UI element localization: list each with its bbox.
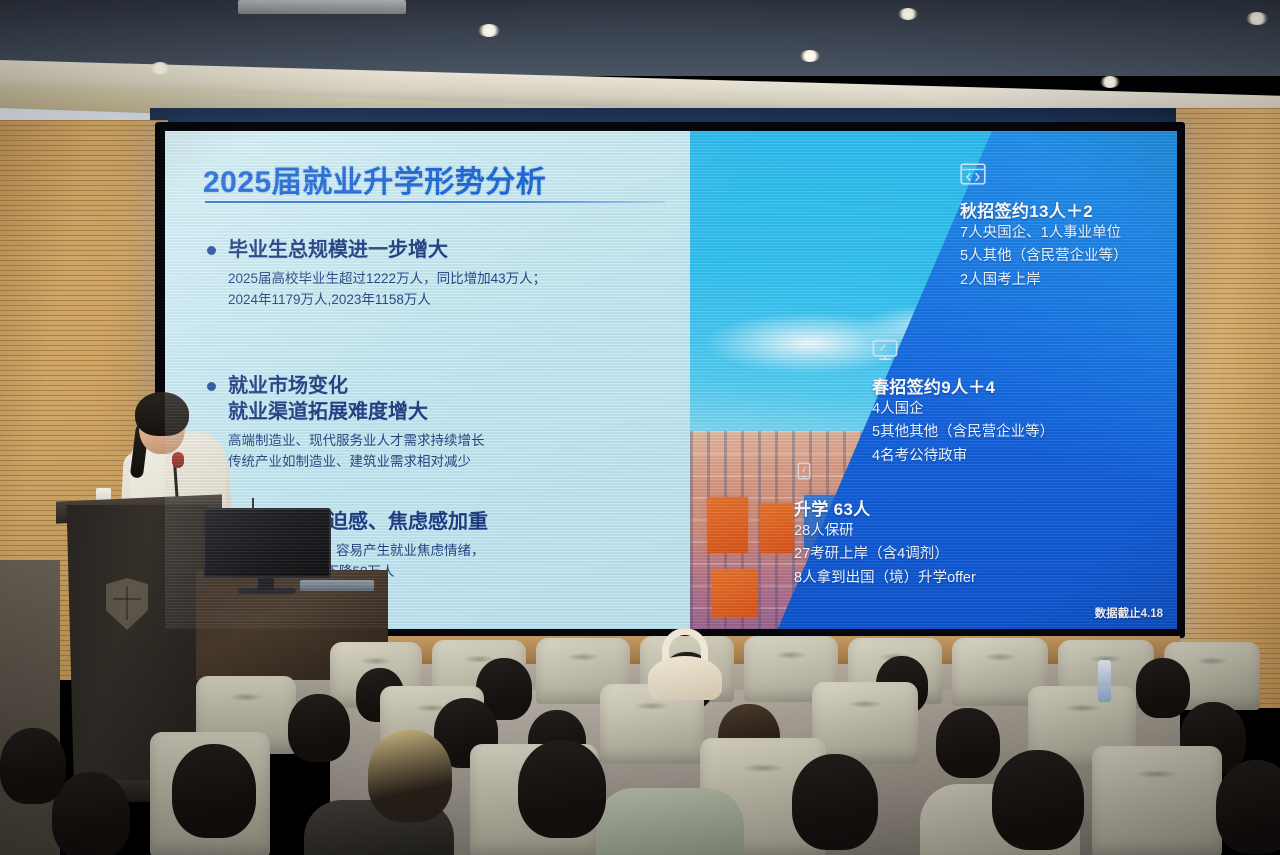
audience-area <box>0 612 1280 855</box>
audience-head <box>368 730 452 822</box>
graduate-panel-line-1: 28人保研 <box>794 520 1094 543</box>
microphone-icon <box>172 452 184 468</box>
graduate-panel-line-2: 27考研上岸（含4调剂） <box>794 543 1094 566</box>
bullet-1-sub-line-1: 2025届高校毕业生超过1222万人，同比增加43万人； <box>228 269 697 290</box>
downlight <box>150 62 170 74</box>
bullet-dot-icon <box>207 246 216 255</box>
building-window <box>760 503 794 553</box>
audience-head <box>0 728 66 804</box>
stat-panel-autumn: 秋招签约13人＋2 7人央国企、1人事业单位 5人其他（含民营企业等） 2人国考… <box>960 163 1172 292</box>
slide-bullet-1: 毕业生总规模进一步增大 2025届高校毕业生超过1222万人，同比增加43万人；… <box>207 237 697 311</box>
audience-head <box>288 694 350 762</box>
building-window <box>708 497 748 553</box>
spring-panel-line-1: 4人国企 <box>872 398 1124 421</box>
water-bottle <box>1098 660 1111 702</box>
audience-head <box>1216 760 1280 854</box>
stat-panel-graduate-study: 升学 63人 28人保研 27考研上岸（含4调剂） 8人拿到出国（境）升学off… <box>794 459 1094 590</box>
speaker-hair <box>135 392 189 436</box>
downlight <box>478 24 500 37</box>
bullet-1-heading: 毕业生总规模进一步增大 <box>228 237 448 263</box>
stat-panel-spring: 春招签约9人＋4 4人国企 5其他其他（含民营企业等） 4名考公待政审 <box>872 339 1124 468</box>
monitor-icon <box>872 339 898 361</box>
downlight <box>1246 12 1268 25</box>
slide-title: 2025届就业升学形势分析 <box>203 157 673 201</box>
bullet-2-sub-line-1: 高端制造业、现代服务业人才需求持续增长 <box>228 431 697 452</box>
downlight <box>1100 76 1120 88</box>
autumn-panel-title: 秋招签约13人＋2 <box>960 197 1172 222</box>
audience-shoulders <box>596 788 744 855</box>
control-monitor <box>203 508 331 578</box>
slide-right-pane: 秋招签约13人＋2 7人央国企、1人事业单位 5人其他（含民营企业等） 2人国考… <box>690 131 1177 629</box>
bullet-2-heading-line-2: 就业渠道拓展难度增大 <box>228 399 428 425</box>
tote-bag <box>648 656 722 700</box>
audience-head <box>172 744 256 838</box>
audience-head <box>518 740 606 838</box>
autumn-panel-line-2: 5人其他（含民营企业等） <box>960 245 1172 268</box>
bullet-2-heading-line-1: 就业市场变化 <box>228 373 428 399</box>
tablet-icon <box>794 459 814 483</box>
bullet-2-sub-line-2: 传统产业如制造业、建筑业需求相对减少 <box>228 452 697 473</box>
downlight <box>898 8 918 20</box>
lecture-hall-scene: 2025届就业升学形势分析 毕业生总规模进一步增大 2025届高校毕业生超过12… <box>0 0 1280 855</box>
audience-head <box>936 708 1000 778</box>
projector-mount <box>238 0 406 14</box>
spring-panel-line-2: 5其他其他（含民营企业等） <box>872 421 1124 444</box>
building-window <box>712 569 758 617</box>
code-window-icon <box>960 163 986 185</box>
graduate-panel-title: 升学 63人 <box>794 495 1094 520</box>
audience-head <box>1136 658 1190 718</box>
spring-panel-title: 春招签约9人＋4 <box>872 373 1124 398</box>
autumn-panel-line-3: 2人国考上岸 <box>960 269 1172 292</box>
bullet-1-sub-line-2: 2024年1179万人,2023年1158万人 <box>228 290 697 311</box>
autumn-panel-line-1: 7人央国企、1人事业单位 <box>960 222 1172 245</box>
keyboard <box>300 580 374 591</box>
downlight <box>800 50 820 62</box>
audience-head <box>992 750 1084 850</box>
title-underline <box>205 201 665 203</box>
graduate-panel-line-3: 8人拿到出国（境）升学offer <box>794 567 1094 590</box>
auditorium-seat <box>812 682 918 764</box>
monitor-stand <box>258 576 274 590</box>
bullet-dot-icon <box>207 382 216 391</box>
slide-bullet-2: 就业市场变化 就业渠道拓展难度增大 高端制造业、现代服务业人才需求持续增长 传统… <box>207 373 697 473</box>
audience-head <box>792 754 878 850</box>
auditorium-seat <box>1092 746 1222 855</box>
